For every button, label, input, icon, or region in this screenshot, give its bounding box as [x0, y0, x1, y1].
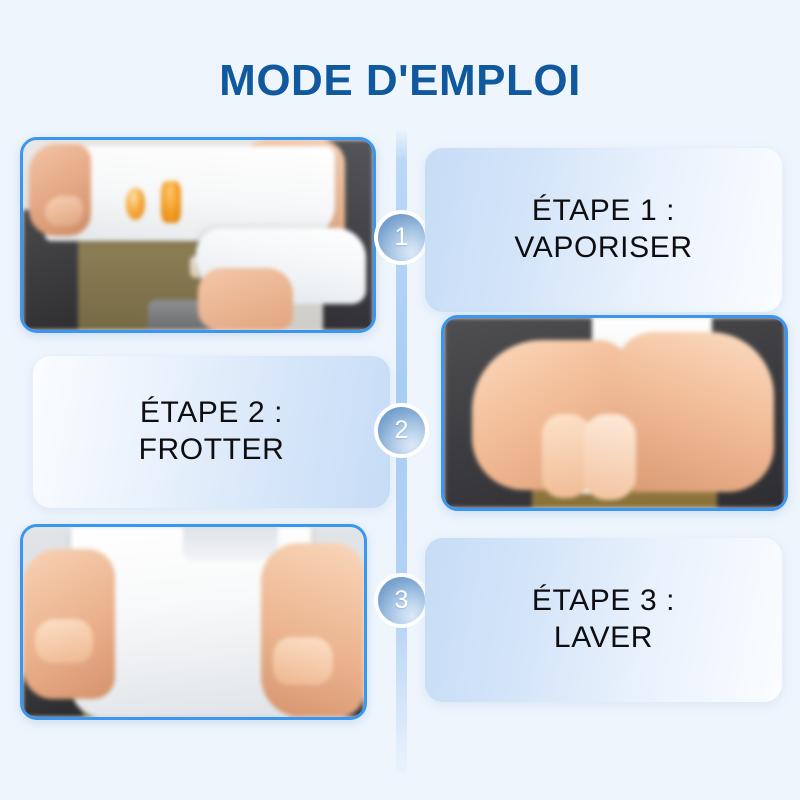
right-hand: [614, 332, 774, 492]
step-2-photo: [441, 315, 788, 511]
step-2-number: 2: [395, 416, 409, 445]
step-2-label: ÉTAPE 2 : FROTTER: [139, 395, 285, 468]
step-3-photo: [20, 524, 367, 720]
step-3-panel: ÉTAPE 3 : LAVER: [425, 538, 782, 702]
step-1-number: 1: [395, 223, 409, 252]
step-1-label: ÉTAPE 1 : VAPORISER: [514, 193, 692, 266]
step-2-photo-scene: [444, 318, 785, 508]
cloth-fold: [183, 527, 278, 561]
instructions-infographic: MODE D'EMPLOI 1 ÉTAPE 1 : VAPORISER ÉTAP…: [0, 0, 800, 800]
left-finger: [542, 414, 590, 498]
left-thumb: [35, 619, 93, 663]
step-1-number-badge: 1: [378, 214, 425, 261]
step-3-number-badge: 3: [378, 577, 425, 624]
right-hand: [198, 268, 293, 330]
step-1-photo: [20, 137, 376, 333]
step-1-panel: ÉTAPE 1 : VAPORISER: [425, 148, 782, 312]
step-3-label: ÉTAPE 3 : LAVER: [532, 583, 675, 656]
right-finger: [584, 414, 636, 500]
left-thumb: [45, 196, 83, 226]
step-1-photo-scene: [23, 140, 373, 330]
step-3-photo-scene: [23, 527, 364, 717]
right-hand: [261, 543, 364, 717]
right-thumb: [273, 637, 333, 685]
step-2-panel: ÉTAPE 2 : FROTTER: [33, 356, 390, 508]
step-2-number-badge: 2: [378, 407, 425, 454]
step-3-number: 3: [395, 586, 409, 615]
page-title: MODE D'EMPLOI: [0, 56, 800, 106]
orange-stain-2: [161, 181, 181, 223]
orange-stain-1: [126, 188, 145, 220]
